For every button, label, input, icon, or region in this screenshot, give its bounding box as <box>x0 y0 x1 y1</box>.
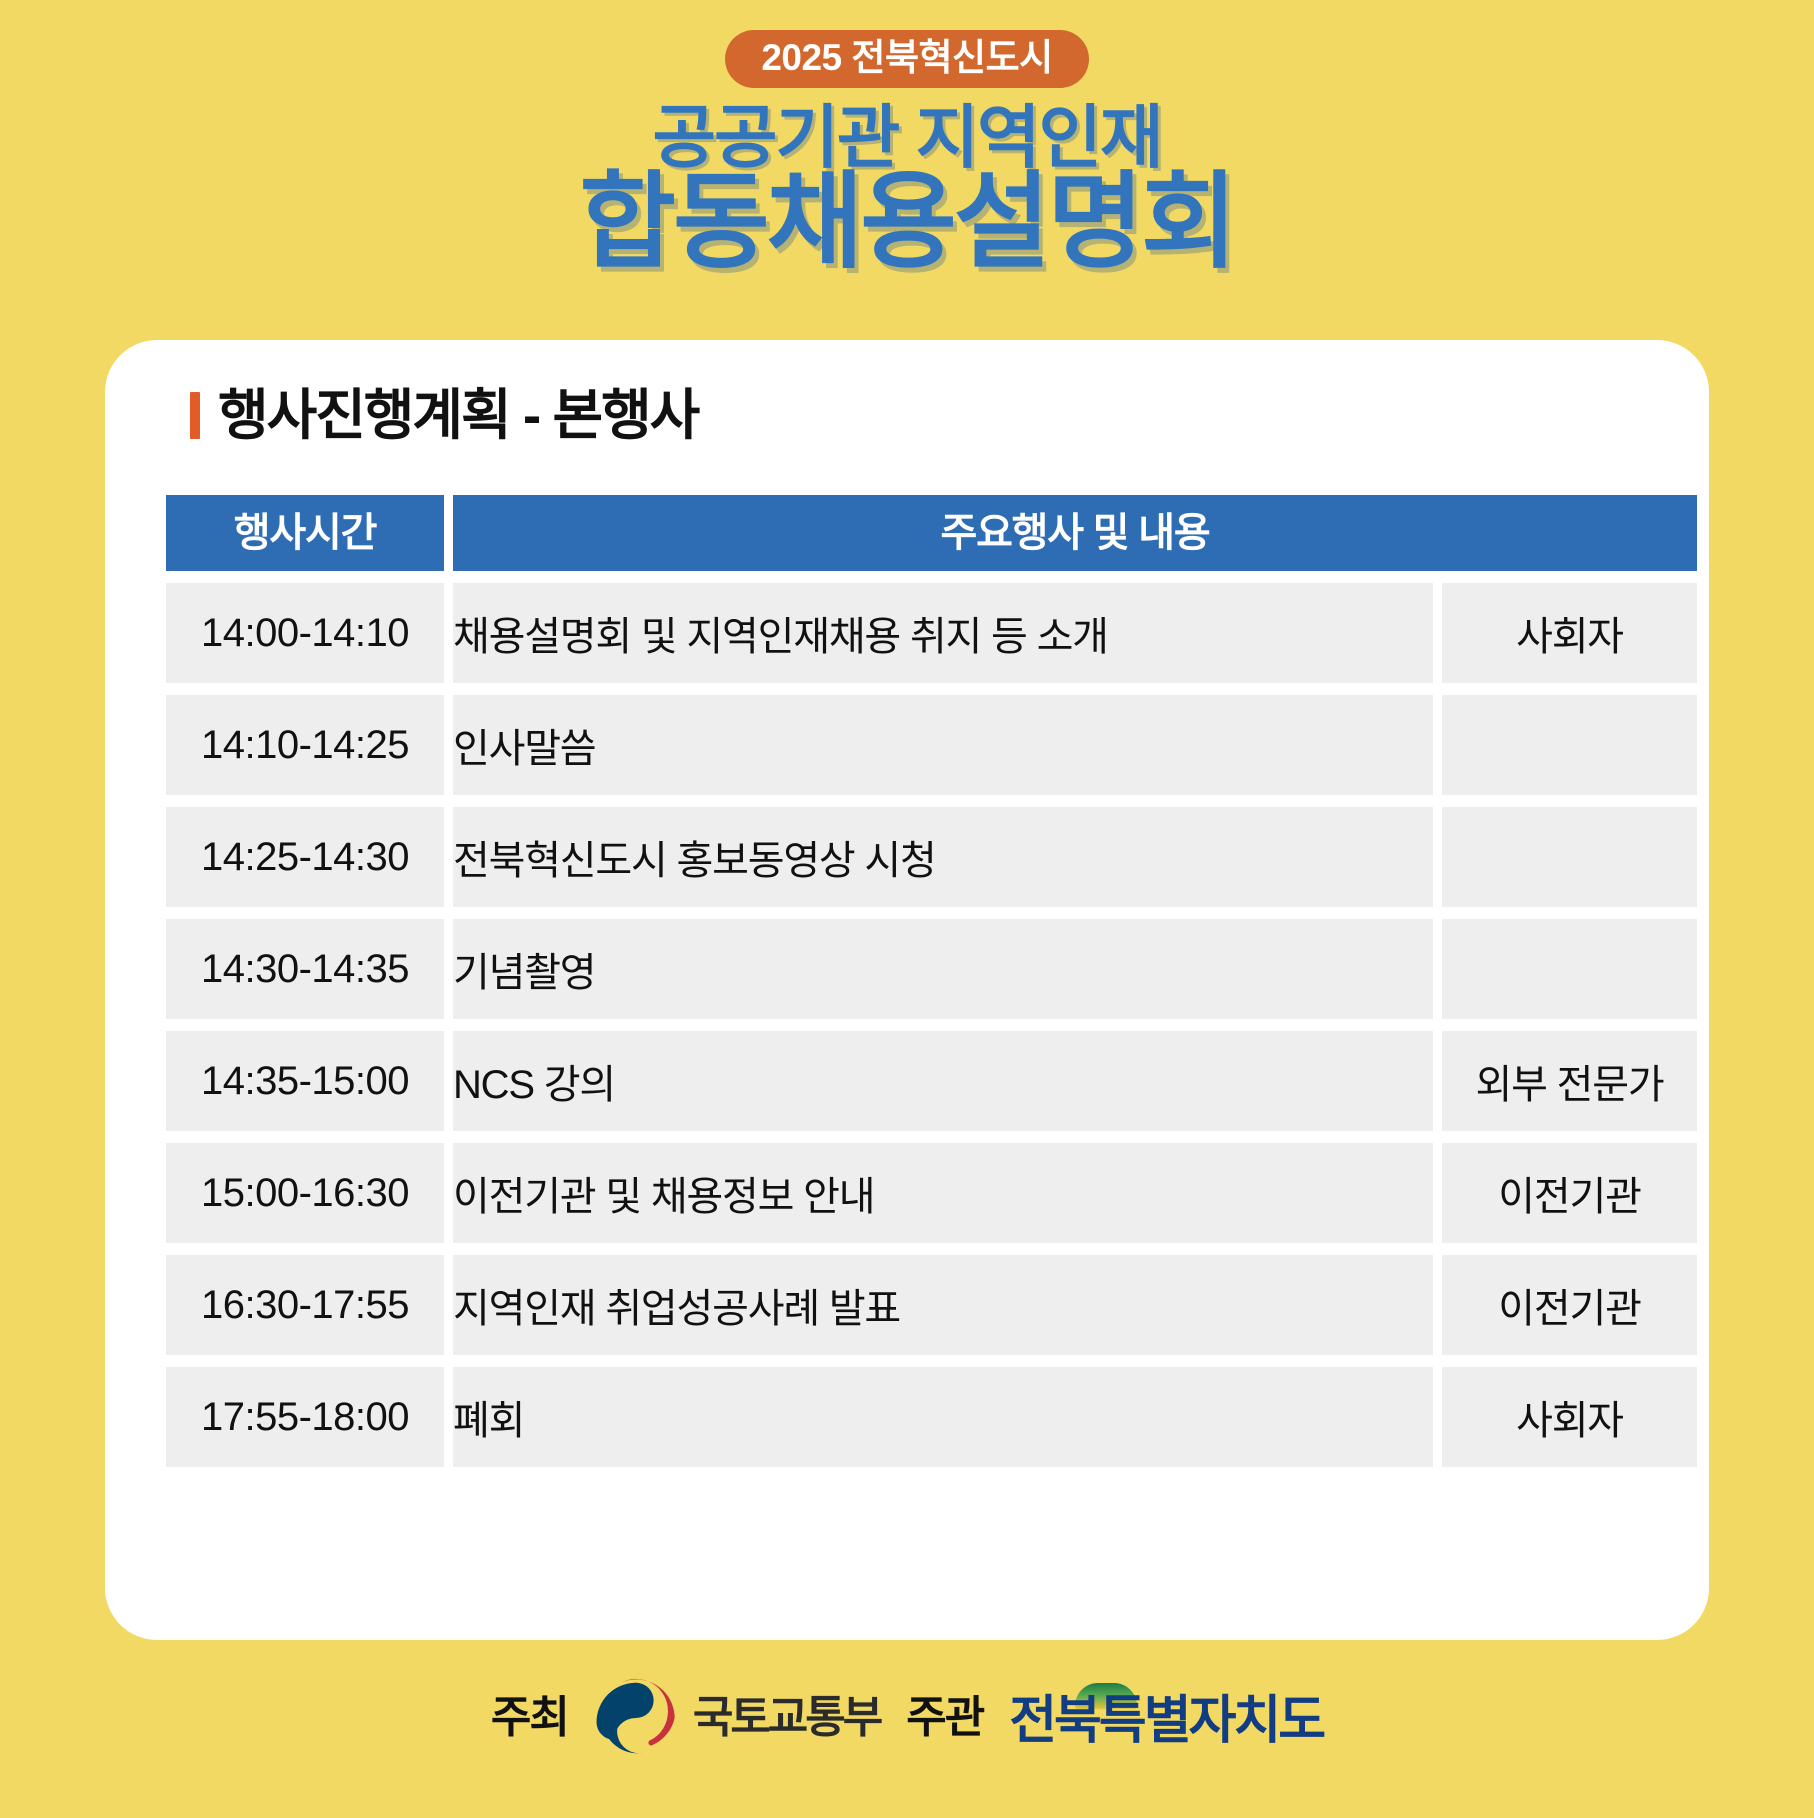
motr-logo: 국토교통부 <box>594 1676 880 1760</box>
taegeuk-emblem-icon <box>594 1676 678 1760</box>
cell-content: 전북혁신도시 홍보동영상 시청 <box>453 807 1433 907</box>
table-header-row: 행사시간 주요행사 및 내용 <box>166 495 1697 571</box>
cell-who: 이전기관 <box>1442 1143 1697 1243</box>
cell-who: 사회자 <box>1442 583 1697 683</box>
cell-time: 17:55-18:00 <box>166 1367 444 1467</box>
year-location-badge: 2025 전북혁신도시 <box>725 30 1088 88</box>
column-header-time: 행사시간 <box>166 495 444 571</box>
schedule-table-head: 행사시간 주요행사 및 내용 <box>166 495 1697 571</box>
cell-who <box>1442 695 1697 795</box>
cell-who: 이전기관 <box>1442 1255 1697 1355</box>
cell-content: 채용설명회 및 지역인재채용 취지 등 소개 <box>453 583 1433 683</box>
host-label: 주최 <box>491 1696 568 1740</box>
table-row: 14:00-14:10 채용설명회 및 지역인재채용 취지 등 소개 사회자 <box>166 583 1697 683</box>
cell-who <box>1442 919 1697 1019</box>
schedule-table-body: 14:00-14:10 채용설명회 및 지역인재채용 취지 등 소개 사회자 1… <box>166 583 1697 1467</box>
column-header-content: 주요행사 및 내용 <box>453 495 1697 571</box>
table-row: 16:30-17:55 지역인재 취업성공사례 발표 이전기관 <box>166 1255 1697 1355</box>
section-title: 행사진행계획 - 본행사 <box>218 388 698 443</box>
table-row: 14:30-14:35 기념촬영 <box>166 919 1697 1019</box>
table-row: 15:00-16:30 이전기관 및 채용정보 안내 이전기관 <box>166 1143 1697 1243</box>
cell-content: 기념촬영 <box>453 919 1433 1019</box>
cell-time: 14:35-15:00 <box>166 1031 444 1131</box>
poster-title-line-2: 합동채용설명회 <box>579 170 1234 275</box>
cell-time: 16:30-17:55 <box>166 1255 444 1355</box>
jeonbuk-name: 전북특별자치도 <box>1009 1692 1323 1750</box>
poster-header: 2025 전북혁신도시 공공기관 지역인재 합동채용설명회 <box>0 0 1814 275</box>
cell-content: 이전기관 및 채용정보 안내 <box>453 1143 1433 1243</box>
cell-content: 지역인재 취업성공사례 발표 <box>453 1255 1433 1355</box>
cell-content: 인사말씀 <box>453 695 1433 795</box>
motr-name: 국토교통부 <box>693 1696 880 1740</box>
schedule-table: 행사시간 주요행사 및 내용 14:00-14:10 채용설명회 및 지역인재채… <box>157 483 1706 1479</box>
cell-who: 사회자 <box>1442 1367 1697 1467</box>
cell-content: 폐회 <box>453 1367 1433 1467</box>
table-row: 14:10-14:25 인사말씀 <box>166 695 1697 795</box>
section-header: 행사진행계획 - 본행사 <box>190 388 1659 443</box>
poster-footer: 주최 국토교통부 주관 전북특별자치도 <box>0 1676 1814 1760</box>
cell-time: 15:00-16:30 <box>166 1143 444 1243</box>
cell-time: 14:10-14:25 <box>166 695 444 795</box>
cell-time: 14:00-14:10 <box>166 583 444 683</box>
table-row: 14:25-14:30 전북혁신도시 홍보동영상 시청 <box>166 807 1697 907</box>
cell-content: NCS 강의 <box>453 1031 1433 1131</box>
jeonbuk-logo: 전북특별자치도 <box>1009 1689 1323 1747</box>
organizer-label: 주관 <box>906 1696 983 1740</box>
accent-bar-icon <box>190 392 200 439</box>
schedule-card: 행사진행계획 - 본행사 행사시간 주요행사 및 내용 14:00-14:10 … <box>105 340 1709 1640</box>
cell-who <box>1442 807 1697 907</box>
cell-time: 14:25-14:30 <box>166 807 444 907</box>
table-row: 17:55-18:00 폐회 사회자 <box>166 1367 1697 1467</box>
cell-who: 외부 전문가 <box>1442 1031 1697 1131</box>
table-row: 14:35-15:00 NCS 강의 외부 전문가 <box>166 1031 1697 1131</box>
cell-time: 14:30-14:35 <box>166 919 444 1019</box>
